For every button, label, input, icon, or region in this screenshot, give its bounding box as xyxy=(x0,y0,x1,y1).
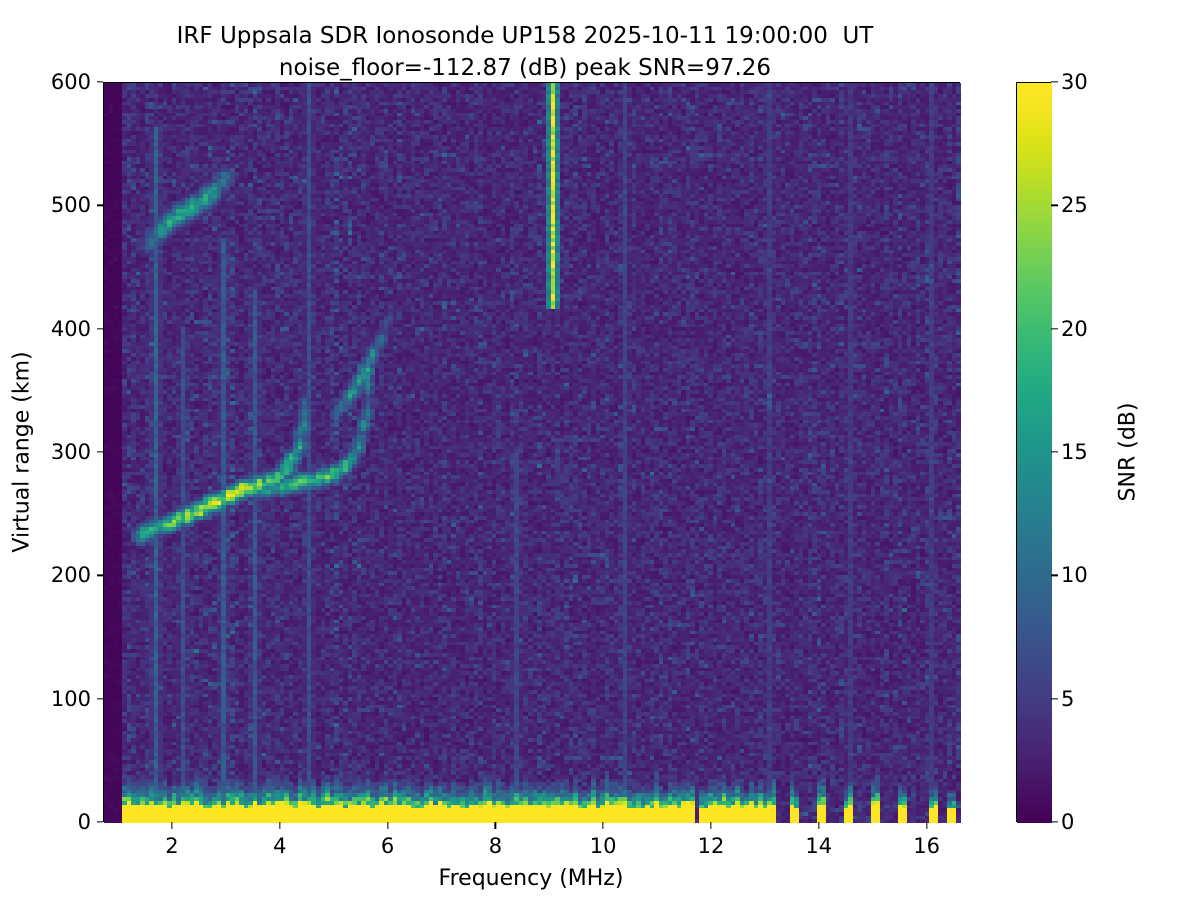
x-tick-label: 6 xyxy=(381,834,394,858)
title-line-2: noise_floor=-112.87 (dB) peak SNR=97.26 xyxy=(0,52,1050,84)
x-tick-label: 4 xyxy=(273,834,286,858)
colorbar-tick-label: 20 xyxy=(1061,317,1088,341)
x-tick-mark xyxy=(926,822,927,829)
colorbar-tick-mark xyxy=(1051,821,1058,822)
colorbar-label: SNR (dB) xyxy=(1116,403,1141,502)
colorbar-tick-label: 25 xyxy=(1061,193,1088,217)
y-tick-mark xyxy=(97,328,104,329)
y-tick-mark xyxy=(97,698,104,699)
colorbar-tick-mark xyxy=(1051,205,1058,206)
y-axis-label: Virtual range (km) xyxy=(10,351,35,552)
colorbar-tick-mark xyxy=(1051,328,1058,329)
y-tick-mark xyxy=(97,575,104,576)
y-tick-label: 100 xyxy=(51,687,91,711)
x-tick-label: 12 xyxy=(698,834,725,858)
y-tick-mark xyxy=(97,81,104,82)
colorbar-tick-mark xyxy=(1051,698,1058,699)
x-tick-mark xyxy=(171,822,172,829)
colorbar-tick-label: 30 xyxy=(1061,70,1088,94)
colorbar-tick-mark xyxy=(1051,575,1058,576)
x-tick-label: 10 xyxy=(590,834,617,858)
x-tick-label: 2 xyxy=(165,834,178,858)
y-tick-label: 400 xyxy=(51,317,91,341)
x-tick-label: 14 xyxy=(805,834,832,858)
plot-axes xyxy=(103,82,960,822)
colorbar-tick-mark xyxy=(1051,451,1058,452)
y-tick-label: 300 xyxy=(51,440,91,464)
colorbar-tick-label: 0 xyxy=(1061,810,1074,834)
colorbar-tick-label: 10 xyxy=(1061,563,1088,587)
x-axis-label: Frequency (MHz) xyxy=(439,866,624,891)
x-tick-mark xyxy=(603,822,604,829)
x-tick-mark xyxy=(495,822,496,829)
x-tick-mark xyxy=(710,822,711,829)
y-tick-mark xyxy=(97,205,104,206)
ionogram-heatmap xyxy=(104,83,961,823)
title-line-1: IRF Uppsala SDR Ionosonde UP158 2025-10-… xyxy=(0,20,1050,52)
y-tick-label: 600 xyxy=(51,70,91,94)
x-tick-mark xyxy=(279,822,280,829)
colorbar-tick-label: 15 xyxy=(1061,440,1088,464)
colorbar-ticks: 051015202530 xyxy=(1016,0,1200,900)
x-tick-label: 16 xyxy=(913,834,940,858)
x-tick-mark xyxy=(818,822,819,829)
y-tick-label: 200 xyxy=(51,563,91,587)
y-tick-label: 500 xyxy=(51,193,91,217)
y-tick-mark xyxy=(97,451,104,452)
colorbar-tick-mark xyxy=(1051,81,1058,82)
figure-title: IRF Uppsala SDR Ionosonde UP158 2025-10-… xyxy=(0,20,1050,84)
colorbar-tick-label: 5 xyxy=(1061,687,1074,711)
y-axis-label-wrap: Virtual range (km) xyxy=(26,0,28,900)
x-tick-mark xyxy=(387,822,388,829)
ionogram-figure: IRF Uppsala SDR Ionosonde UP158 2025-10-… xyxy=(0,0,1200,900)
x-tick-label: 8 xyxy=(489,834,502,858)
